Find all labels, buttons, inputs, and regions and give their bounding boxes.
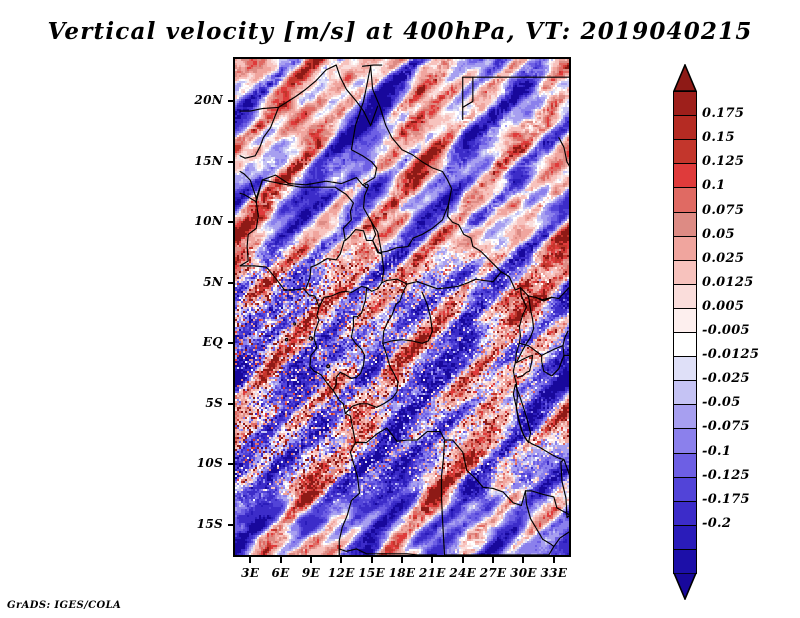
colorbar-label-3: 0.1	[702, 178, 726, 193]
y-tick-label-10n: 10N	[183, 214, 223, 228]
colorbar-label-7: 0.0125	[702, 275, 754, 290]
colorbar-band-7	[673, 260, 697, 286]
colorbar-label-2: 0.125	[702, 154, 744, 169]
colorbar-band-3	[673, 163, 697, 189]
y-tick-label-10s: 10S	[183, 456, 223, 470]
country-borders-overlay	[235, 59, 569, 555]
x-tick-mark	[371, 556, 373, 563]
x-tick-label-33e: 33E	[534, 566, 574, 580]
colorbar-band-10	[673, 332, 697, 358]
x-tick-mark	[340, 556, 342, 563]
x-tick-mark	[462, 556, 464, 563]
colorbar-top-arrow	[673, 64, 697, 91]
colorbar-label-1: 0.15	[702, 130, 735, 145]
colorbar-band-2	[673, 139, 697, 165]
colorbar-band-12	[673, 380, 697, 406]
colorbar-band-9	[673, 308, 697, 334]
y-tick-mark	[228, 100, 235, 102]
y-tick-mark	[228, 161, 235, 163]
y-tick-label-15s: 15S	[183, 517, 223, 531]
colorbar-band-18	[673, 525, 697, 551]
x-tick-mark	[310, 556, 312, 563]
colorbar-band-13	[673, 404, 697, 430]
y-tick-label-15n: 15N	[183, 154, 223, 168]
colorbar-band-11	[673, 356, 697, 382]
colorbar-band-16	[673, 477, 697, 503]
colorbar-label-0: 0.175	[702, 106, 744, 121]
colorbar-label-9: -0.005	[702, 323, 750, 338]
colorbar-label-11: -0.025	[702, 371, 750, 386]
colorbar-label-12: -0.05	[702, 395, 741, 410]
y-tick-mark	[228, 221, 235, 223]
x-tick-mark	[492, 556, 494, 563]
x-tick-mark	[249, 556, 251, 563]
colorbar-label-6: 0.025	[702, 251, 744, 266]
colorbar-label-10: -0.0125	[702, 347, 759, 362]
y-tick-mark	[228, 342, 235, 344]
page-title: Vertical velocity [m/s] at 400hPa, VT: 2…	[0, 18, 800, 45]
y-tick-mark	[228, 403, 235, 405]
map-plot-area	[233, 57, 571, 557]
x-tick-mark	[431, 556, 433, 563]
x-tick-mark	[553, 556, 555, 563]
y-tick-label-20n: 20N	[183, 93, 223, 107]
y-tick-mark	[228, 282, 235, 284]
colorbar-band-14	[673, 428, 697, 454]
colorbar-band-1	[673, 115, 697, 141]
y-tick-label-eq: EQ	[183, 335, 223, 349]
colorbar-label-8: 0.005	[702, 299, 744, 314]
colorbar-band-17	[673, 501, 697, 527]
colorbar-label-5: 0.05	[702, 227, 735, 242]
colorbar-band-4	[673, 187, 697, 213]
grads-attribution: GrADS: IGES/COLA	[7, 600, 121, 611]
colorbar-band-15	[673, 453, 697, 479]
colorbar-band-0	[673, 91, 697, 117]
colorbar-label-4: 0.075	[702, 203, 744, 218]
grads-plot-page: Vertical velocity [m/s] at 400hPa, VT: 2…	[0, 0, 800, 618]
colorbar-label-17: -0.2	[702, 516, 731, 531]
colorbar	[673, 64, 697, 552]
y-tick-mark	[228, 524, 235, 526]
colorbar-label-15: -0.125	[702, 468, 750, 483]
colorbar-band-6	[673, 236, 697, 262]
colorbar-band-5	[673, 212, 697, 238]
colorbar-band-8	[673, 284, 697, 310]
y-tick-label-5s: 5S	[183, 396, 223, 410]
x-tick-mark	[280, 556, 282, 563]
colorbar-label-13: -0.075	[702, 419, 750, 434]
y-tick-mark	[228, 463, 235, 465]
colorbar-label-14: -0.1	[702, 444, 731, 459]
colorbar-label-16: -0.175	[702, 492, 750, 507]
colorbar-band-19	[673, 549, 697, 575]
x-tick-mark	[522, 556, 524, 563]
y-tick-label-5n: 5N	[183, 275, 223, 289]
colorbar-bottom-arrow	[673, 573, 697, 600]
x-tick-mark	[401, 556, 403, 563]
